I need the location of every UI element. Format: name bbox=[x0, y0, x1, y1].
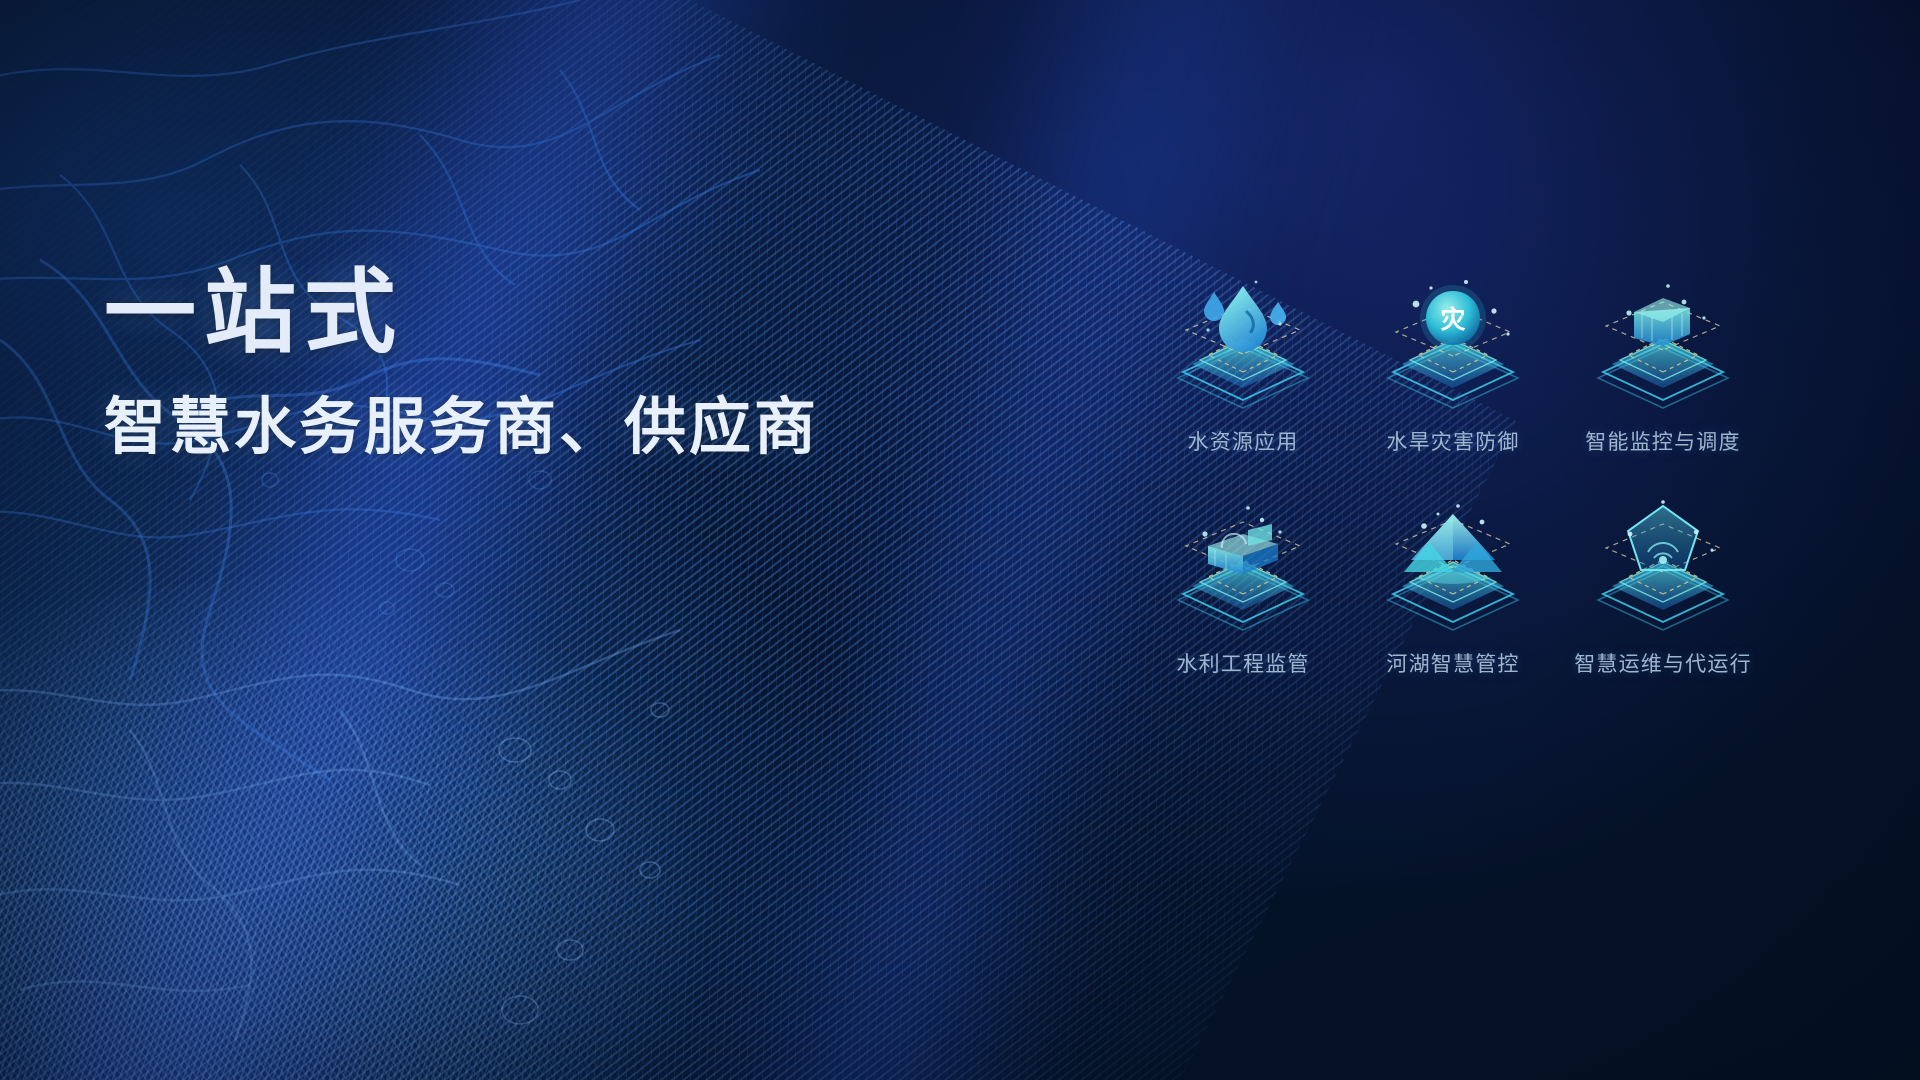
headline-block: 一站式 智慧水务服务商、供应商 bbox=[104, 262, 964, 465]
sphere-glyph: 灾 bbox=[1440, 305, 1465, 334]
service-item-water-resource[interactable]: 水资源应用 bbox=[1138, 268, 1348, 490]
water-drop-icon bbox=[1152, 268, 1334, 420]
page-subtitle: 智慧水务服务商、供应商 bbox=[104, 391, 964, 465]
service-item-river-lake-control[interactable]: 河湖智慧管控 bbox=[1348, 490, 1558, 712]
service-label: 智慧运维与代运行 bbox=[1574, 648, 1752, 678]
service-label: 河湖智慧管控 bbox=[1386, 648, 1519, 678]
service-item-smart-monitoring-dispatch[interactable]: 智能监控与调度 bbox=[1558, 268, 1768, 490]
river-lake-icon bbox=[1362, 490, 1544, 642]
shield-ops-icon bbox=[1572, 490, 1754, 642]
service-item-smart-ops-outsourcing[interactable]: 智慧运维与代运行 bbox=[1558, 490, 1768, 712]
service-label: 水旱灾害防御 bbox=[1386, 426, 1519, 456]
service-icon-grid: 水资源应用 bbox=[1138, 268, 1798, 712]
service-label: 水资源应用 bbox=[1188, 426, 1299, 456]
service-label: 水利工程监管 bbox=[1176, 648, 1309, 678]
page-title: 一站式 bbox=[104, 262, 964, 365]
disaster-sphere-icon: 灾 bbox=[1362, 268, 1544, 420]
service-item-flood-drought-defense[interactable]: 灾 水旱灾害防御 bbox=[1348, 268, 1558, 490]
dam-monitor-icon bbox=[1572, 268, 1754, 420]
service-item-hydro-project-supervision[interactable]: 水利工程监管 bbox=[1138, 490, 1348, 712]
hydro-facility-icon bbox=[1152, 490, 1334, 642]
service-label: 智能监控与调度 bbox=[1585, 426, 1740, 456]
